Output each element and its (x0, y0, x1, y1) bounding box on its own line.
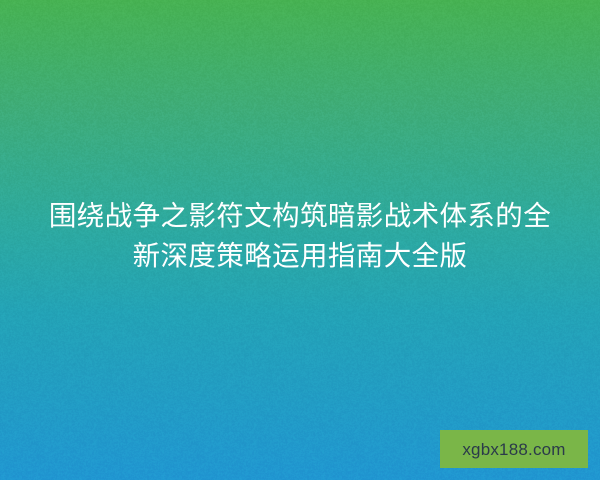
watermark-label: xgbx188.com (462, 441, 565, 458)
cover-card: 围绕战争之影符文构筑暗影战术体系的全 新深度策略运用指南大全版 xgbx188.… (0, 0, 600, 480)
watermark-badge: xgbx188.com (440, 430, 588, 468)
page-title: 围绕战争之影符文构筑暗影战术体系的全 新深度策略运用指南大全版 (0, 196, 600, 276)
